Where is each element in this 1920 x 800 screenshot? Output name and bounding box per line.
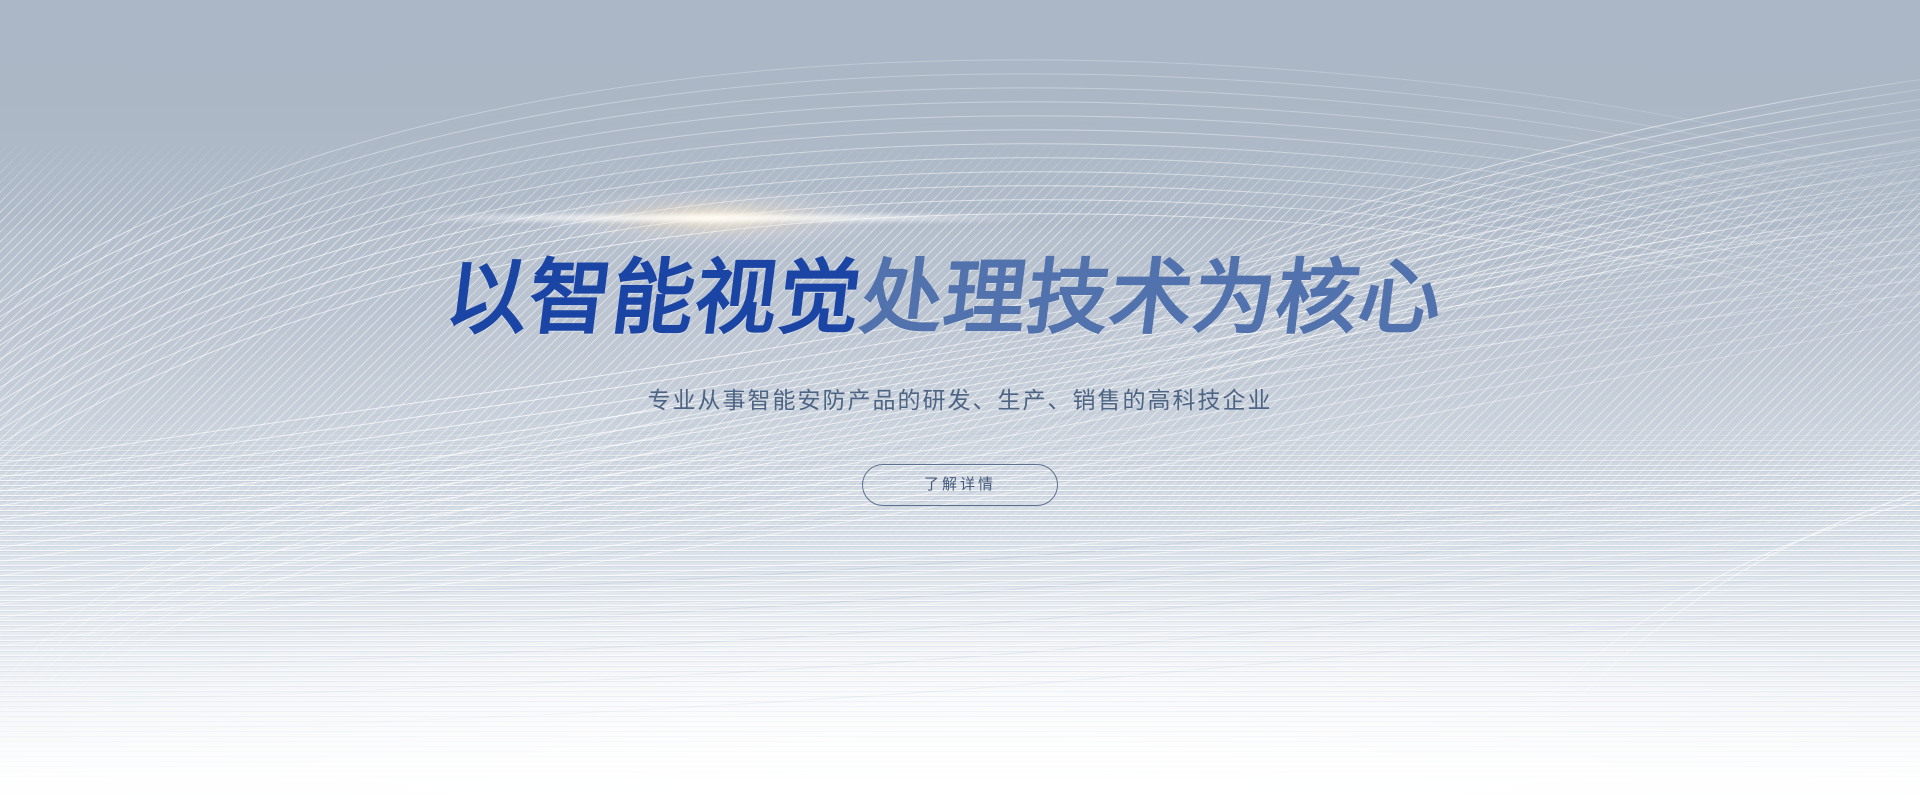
headline-segment-soft: 处理技术为核心 <box>855 251 1448 346</box>
headline-segment-strong: 以智能视觉 <box>440 251 867 346</box>
page-title: 以智能视觉处理技术为核心 <box>0 0 1920 340</box>
cta-container: 了解详情 <box>0 416 1920 506</box>
hero-banner: 以智能视觉处理技术为核心 专业从事智能安防产品的研发、生产、销售的高科技企业 了… <box>0 0 1920 800</box>
page-subtitle: 专业从事智能安防产品的研发、生产、销售的高科技企业 <box>0 340 1920 416</box>
learn-more-button[interactable]: 了解详情 <box>862 464 1058 506</box>
hero-content: 以智能视觉处理技术为核心 专业从事智能安防产品的研发、生产、销售的高科技企业 了… <box>0 0 1920 506</box>
